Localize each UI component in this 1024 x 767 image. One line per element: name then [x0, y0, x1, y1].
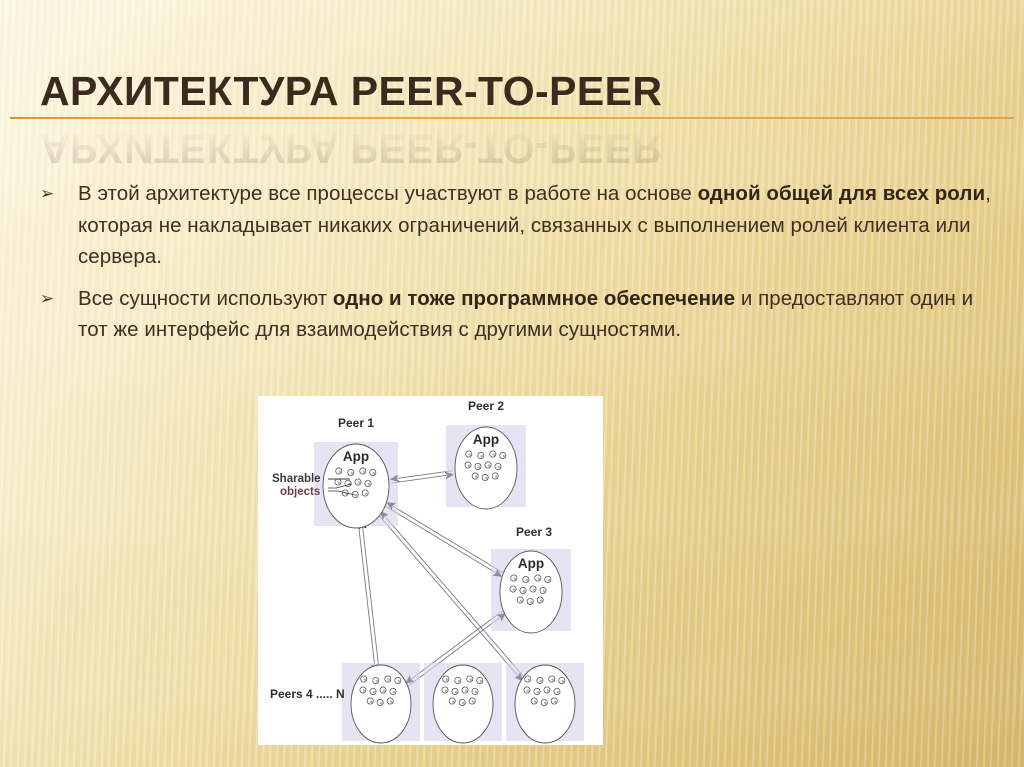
- svg-text:App: App: [473, 432, 499, 447]
- bullet-1-seg-0: В этой архитектуре все процессы участвую…: [78, 182, 698, 205]
- bullet-arrow-icon: ➢: [34, 178, 78, 209]
- svg-text:Peer 1: Peer 1: [338, 416, 374, 430]
- bullet-2-seg-1: одно и тоже программное обеспечение: [333, 287, 735, 310]
- diagram-node-peerN2: [424, 663, 502, 743]
- slide-title-block: Архитектура Peer-to-Peer Архитектура Pee…: [0, 60, 1024, 165]
- bullet-arrow-icon: ➢: [34, 283, 78, 314]
- list-item: ➢ В этой архитектуре все процессы участв…: [34, 178, 994, 273]
- page-title-reflection: Архитектура Peer-to-Peer: [40, 125, 662, 172]
- svg-text:Sharable: Sharable: [272, 473, 321, 485]
- bullet-text-1: В этой архитектуре все процессы участвую…: [78, 178, 994, 273]
- bullet-list: ➢ В этой архитектуре все процессы участв…: [34, 178, 994, 356]
- p2p-diagram-svg: AppPeer 1AppPeer 2AppPeer 3 Sharable obj…: [258, 396, 603, 745]
- p2p-architecture-diagram: AppPeer 1AppPeer 2AppPeer 3 Sharable obj…: [258, 396, 603, 745]
- svg-text:Peer 3: Peer 3: [516, 525, 552, 539]
- svg-text:App: App: [343, 449, 369, 464]
- svg-text:App: App: [518, 556, 544, 571]
- bullet-text-2: Все сущности используют одно и тоже прог…: [78, 283, 994, 346]
- slide-canvas: Архитектура Peer-to-Peer Архитектура Pee…: [0, 0, 1024, 767]
- bullet-1-seg-1: одной общей для всех роли: [698, 182, 985, 205]
- svg-text:objects: objects: [280, 486, 320, 498]
- list-item: ➢ Все сущности используют одно и тоже пр…: [34, 283, 994, 346]
- peers-n-label: Peers 4 ..... N: [270, 687, 345, 701]
- title-underline-rule: [10, 117, 1014, 119]
- svg-text:Peer 2: Peer 2: [468, 399, 504, 413]
- page-title: Архитектура Peer-to-Peer: [40, 68, 662, 115]
- bullet-2-seg-0: Все сущности используют: [78, 287, 333, 310]
- diagram-node-peerN3: [506, 663, 584, 743]
- diagram-node-peerN1: [342, 663, 420, 743]
